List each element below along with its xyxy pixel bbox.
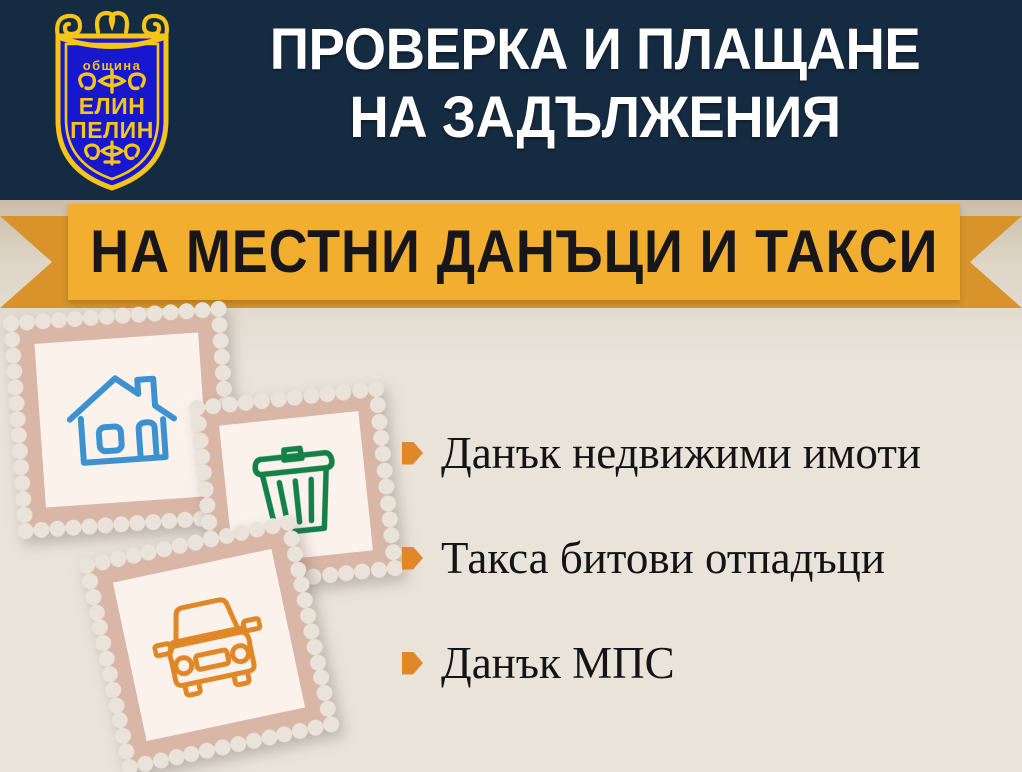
- stamp-scallop: [200, 513, 218, 531]
- stamp-frame: [87, 523, 331, 767]
- stamp-scallop: [114, 307, 131, 324]
- stamp-scallop: [221, 396, 239, 414]
- stamp-scallop: [6, 363, 23, 380]
- stamp-scallop: [188, 399, 206, 417]
- page-title: ПРОВЕРКА И ПЛАЩАНЕ НА ЗАДЪЛЖЕНИЯ: [205, 16, 985, 152]
- stamp-scallop: [5, 347, 22, 364]
- stamp-scallop: [178, 303, 195, 320]
- list-item[interactable]: Данък МПС: [402, 634, 1017, 692]
- page-title-line1: ПРОВЕРКА И ПЛАЩАНЕ: [270, 17, 920, 82]
- stamp-scallop: [130, 306, 147, 323]
- list-item-label: Данък МПС: [441, 638, 675, 688]
- stamp-scallop: [34, 313, 51, 330]
- stamp-scallop: [10, 427, 27, 444]
- stamp-scallop: [192, 432, 210, 450]
- stamp-scallop: [15, 491, 32, 508]
- bullet-arrow-icon: [402, 547, 423, 570]
- municipality-crest-logo: община ЕЛИН ПЕЛИН: [42, 10, 182, 192]
- stamp-paper: [34, 332, 209, 507]
- stamp-scallop: [351, 382, 369, 400]
- stamp-scallop: [14, 475, 31, 492]
- stamp-scallop: [13, 459, 30, 476]
- stamp-scallop: [16, 507, 33, 524]
- ribbon-label: НА МЕСТНИ ДАНЪЦИ И ТАКСИ: [90, 221, 938, 283]
- bullet-arrow-icon: [402, 652, 423, 675]
- stamp-scallop: [302, 387, 320, 405]
- stamp-scallop: [9, 411, 26, 428]
- stamp-scallop: [98, 308, 115, 325]
- stamp-scallop: [8, 395, 25, 412]
- poster-root: ПРОВЕРКА И ПЛАЩАНЕ НА ЗАДЪЛЖЕНИЯ община: [0, 0, 1022, 772]
- car-icon: [144, 586, 274, 703]
- stamp-scallop: [82, 309, 99, 326]
- stamp-scallop: [2, 315, 19, 332]
- ribbon-body: НА МЕСТНИ ДАНЪЦИ И ТАКСИ: [68, 204, 960, 300]
- stamp-paper: [113, 549, 305, 741]
- page-title-line2: НА ЗАДЪЛЖЕНИЯ: [205, 84, 985, 152]
- stamp-card-vehicle: [87, 523, 331, 767]
- crest-icon: община ЕЛИН ПЕЛИН: [42, 10, 182, 192]
- stamp-scallop: [194, 302, 211, 319]
- stamp-scallop: [66, 311, 83, 328]
- stamp-scallop: [162, 304, 179, 321]
- list-item[interactable]: Такса битови отпадъци: [402, 529, 1017, 587]
- tax-type-list: Данък недвижими имоти Такса битови отпад…: [402, 424, 1017, 692]
- stamp-scallop: [4, 331, 21, 348]
- stamp-scallop: [197, 480, 215, 498]
- list-item-label: Данък недвижими имоти: [441, 428, 921, 478]
- stamp-scallop: [270, 391, 288, 409]
- bullet-arrow-icon: [402, 442, 423, 465]
- ribbon-banner: НА МЕСТНИ ДАНЪЦИ И ТАКСИ: [0, 198, 1022, 310]
- stamp-scallop: [50, 312, 67, 329]
- stamp-scallop: [18, 314, 35, 331]
- stamp-scallop: [11, 443, 28, 460]
- stamp-scallop: [146, 305, 163, 322]
- list-item[interactable]: Данък недвижими имоти: [402, 424, 1017, 482]
- stamp-scallop: [7, 379, 24, 396]
- crest-name-line2: ПЕЛИН: [70, 117, 154, 143]
- house-icon: [63, 364, 182, 476]
- crest-name-line1: ЕЛИН: [79, 93, 146, 119]
- list-item-label: Такса битови отпадъци: [441, 533, 885, 583]
- stamp-scallop: [318, 385, 336, 403]
